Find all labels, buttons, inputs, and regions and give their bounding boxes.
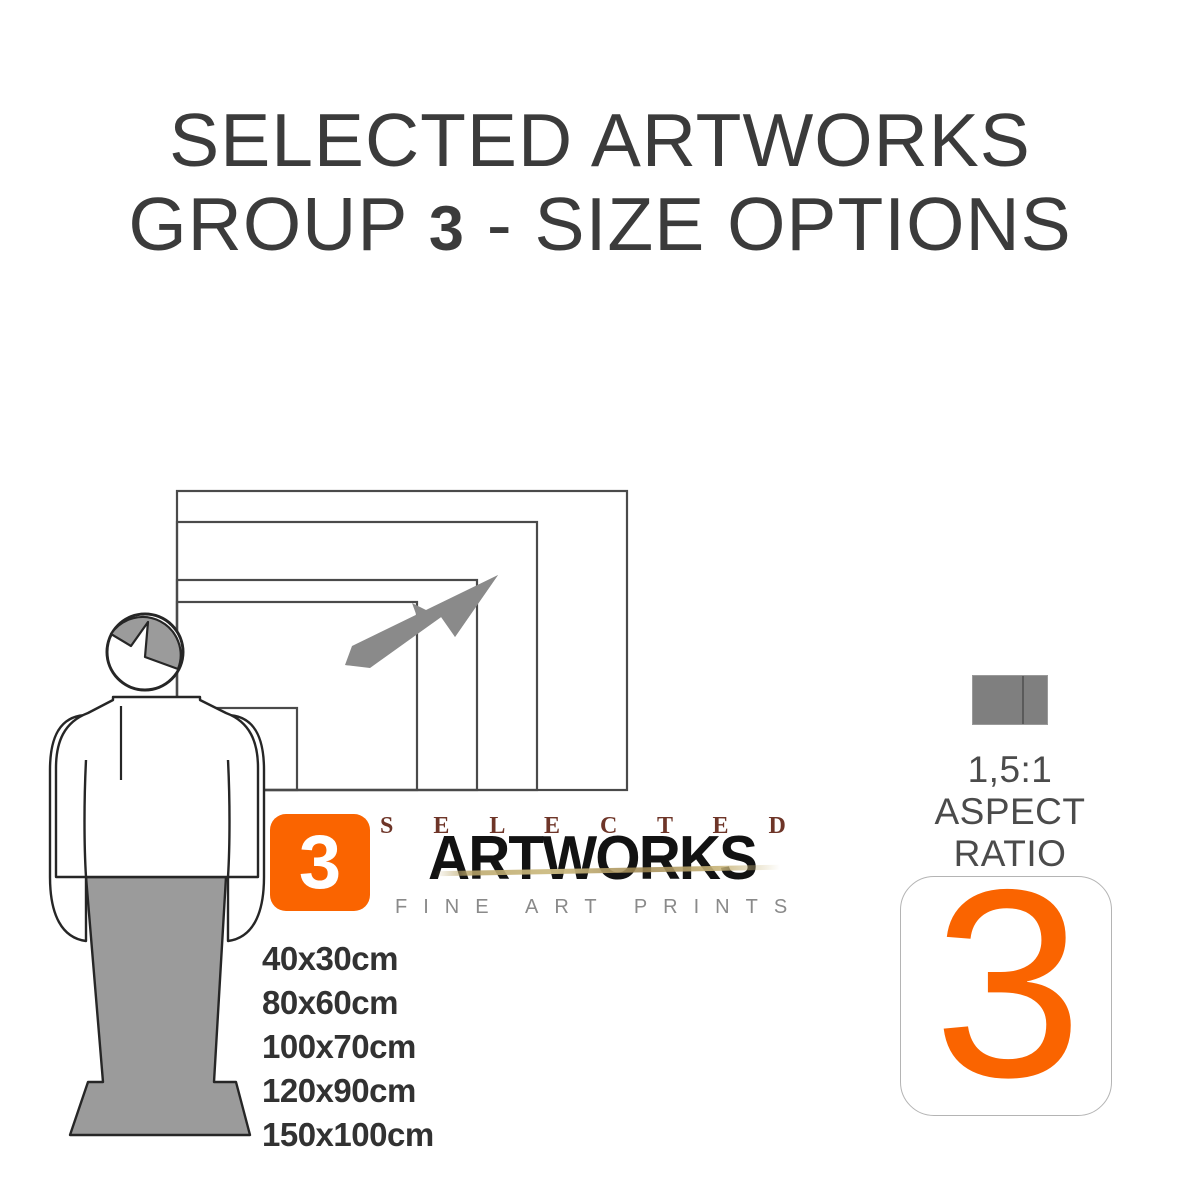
growth-arrow [345, 575, 498, 668]
aspect-ratio-value: 1,5:1 [905, 749, 1115, 791]
person-silhouette [50, 614, 264, 1135]
aspect-ratio-label-1: ASPECT [905, 791, 1115, 833]
brand-wordmark: S E L E C T E D ARTWORKS FINE ART PRINTS [375, 810, 840, 925]
size-option-2: 80x60cm [262, 981, 682, 1025]
size-option-1: 40x30cm [262, 937, 682, 981]
aspect-ratio-divider [1022, 676, 1024, 724]
size-option-5: 150x100cm [262, 1113, 682, 1157]
aspect-ratio-label-2: RATIO [905, 833, 1115, 875]
person-trousers [70, 877, 250, 1135]
poster-canvas: SELECTED ARTWORKS GROUP 3 - SIZE OPTIONS [0, 0, 1200, 1200]
aspect-ratio-icon [972, 675, 1048, 725]
group-badge: 3 [270, 814, 370, 911]
group-number-value: 3 [901, 876, 1111, 1116]
wordmark-artworks: ARTWORKS [428, 828, 756, 890]
aspect-ratio-panel: 1,5:1 ASPECT RATIO [905, 675, 1115, 875]
size-option-4: 120x90cm [262, 1069, 682, 1113]
brand-logo: 3 S E L E C T E D ARTWORKS FINE ART PRIN… [270, 810, 840, 925]
person-torso [56, 697, 258, 877]
size-option-3: 100x70cm [262, 1025, 682, 1069]
wordmark-tagline: FINE ART PRINTS [395, 895, 803, 919]
size-options-list: 40x30cm 80x60cm 100x70cm 120x90cm 150x10… [262, 937, 682, 1157]
group-number-card: 3 [900, 876, 1112, 1116]
